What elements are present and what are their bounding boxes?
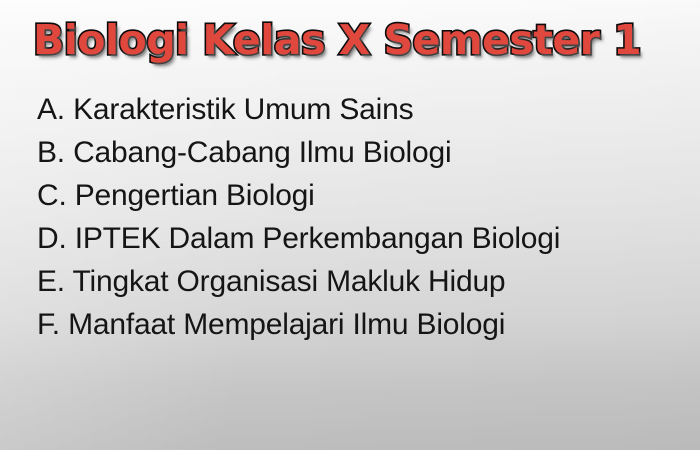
list-item: D. IPTEK Dalam Perkembangan Biologi xyxy=(37,217,690,260)
list-item: A. Karakteristik Umum Sains xyxy=(37,88,690,131)
list-item: C. Pengertian Biologi xyxy=(37,174,690,217)
list-item: F. Manfaat Mempelajari Ilmu Biologi xyxy=(37,303,690,346)
slide-canvas: Biologi Kelas X Semester 1 A. Karakteris… xyxy=(0,0,700,450)
outline-list: A. Karakteristik Umum Sains B. Cabang-Ca… xyxy=(37,88,690,346)
title-block: Biologi Kelas X Semester 1 xyxy=(33,18,641,64)
list-item: E. Tingkat Organisasi Makluk Hidup xyxy=(37,260,690,303)
list-item: B. Cabang-Cabang Ilmu Biologi xyxy=(37,131,690,174)
page-title: Biologi Kelas X Semester 1 xyxy=(33,18,641,64)
